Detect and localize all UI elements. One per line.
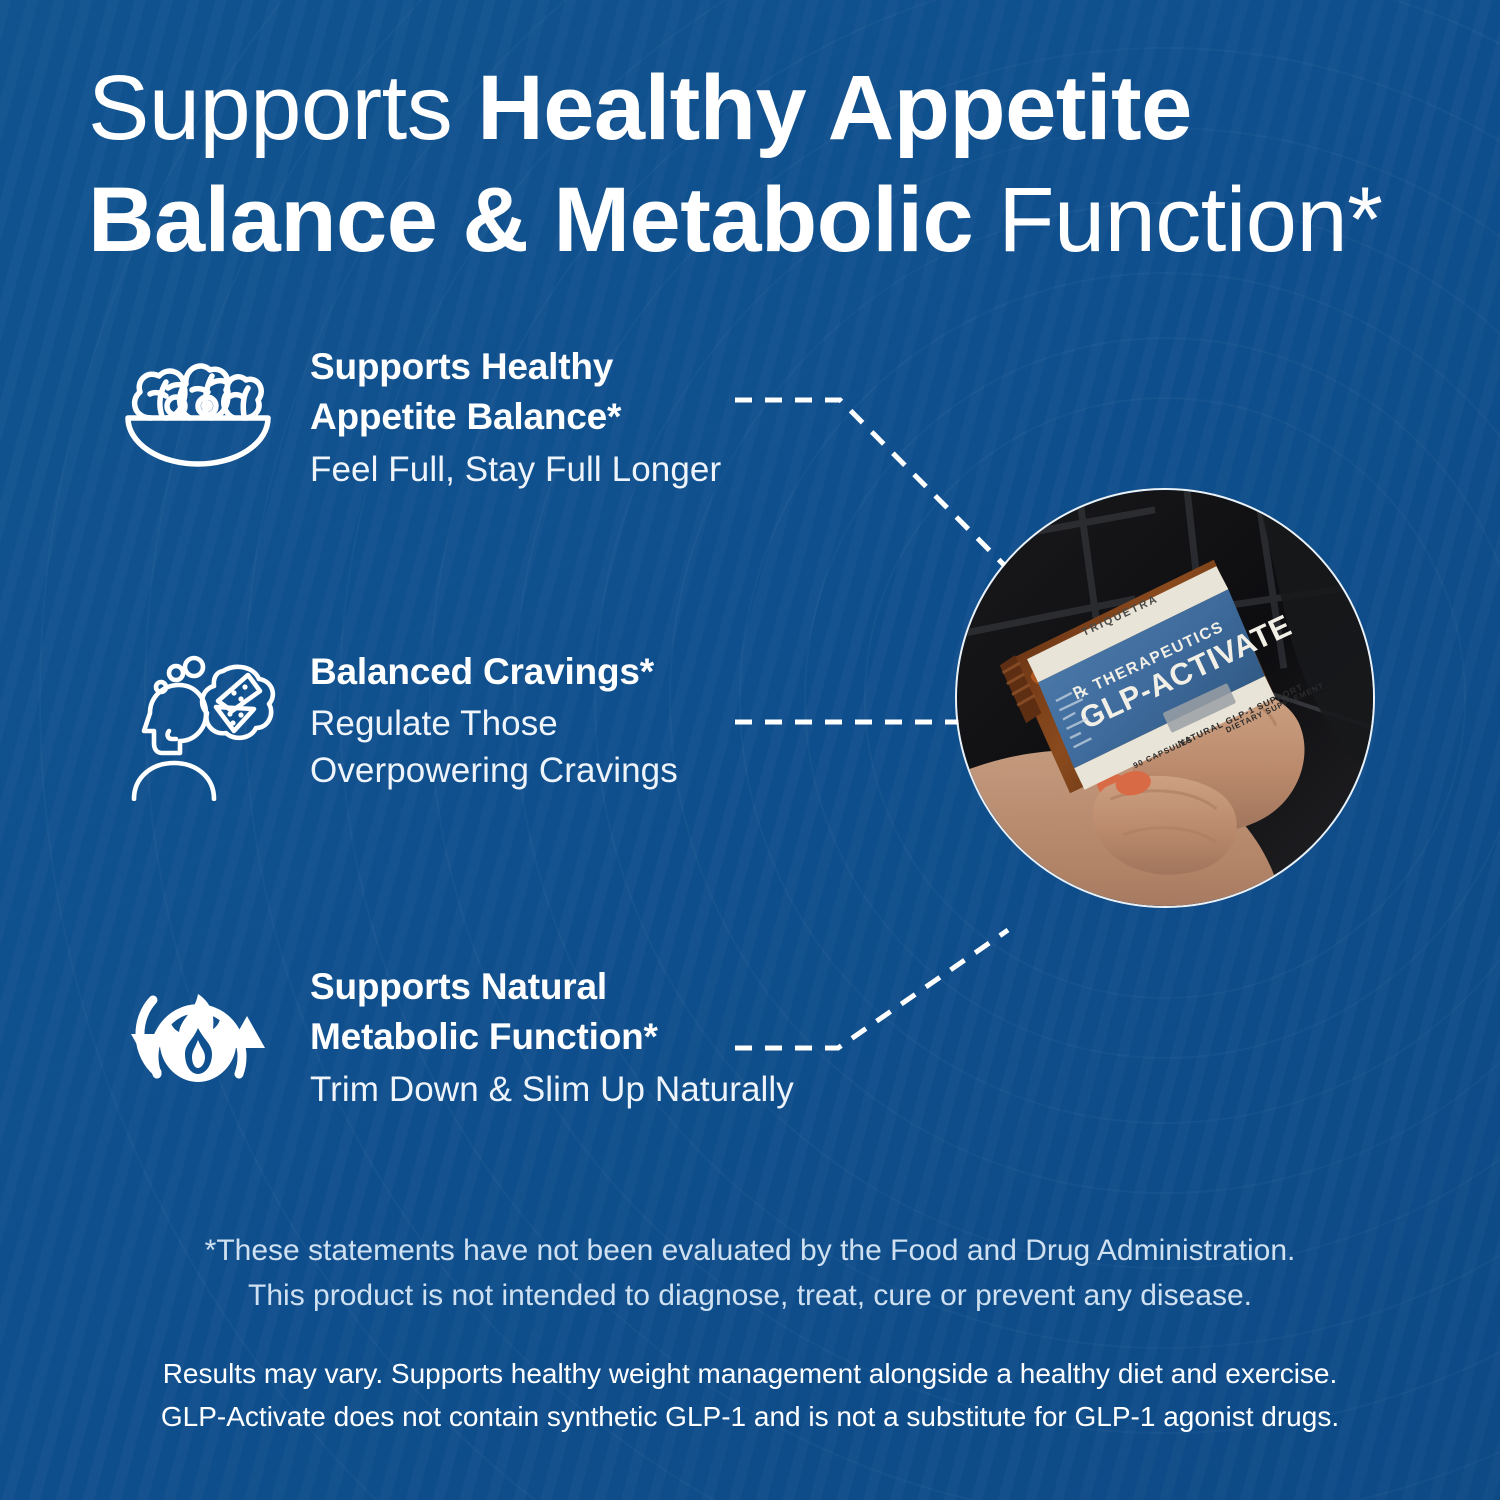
feature-text-block: Supports Healthy Appetite Balance* Feel … — [284, 340, 721, 493]
feature-row-appetite-balance: Supports Healthy Appetite Balance* Feel … — [112, 340, 721, 493]
feature-subtitle: Feel Full, Stay Full Longer — [310, 447, 721, 494]
feature-row-metabolic-function: Supports Natural Metabolic Function* Tri… — [112, 960, 794, 1113]
feature-row-balanced-cravings: Balanced Cravings* Regulate Those Overpo… — [112, 645, 678, 801]
product-photo: TRIQUETRA ℞ THERAPEUTICS GLP-ACTIVATE NA… — [957, 490, 1373, 906]
head-craving-pizza-icon — [112, 645, 284, 801]
feature-subtitle: Regulate Those Overpowering Cravings — [310, 701, 678, 794]
feature-title: Balanced Cravings* — [310, 647, 678, 697]
feature-text-block: Balanced Cravings* Regulate Those Overpo… — [284, 645, 678, 794]
salad-bowl-icon — [112, 340, 284, 468]
feature-subtitle: Trim Down & Slim Up Naturally — [310, 1067, 794, 1114]
feature-title: Supports Healthy Appetite Balance* — [310, 342, 721, 443]
fda-disclaimer: *These statements have not been evaluate… — [0, 1228, 1500, 1318]
flame-metabolism-icon — [112, 960, 284, 1106]
feature-title: Supports Natural Metabolic Function* — [310, 962, 794, 1063]
product-photo-circle: TRIQUETRA ℞ THERAPEUTICS GLP-ACTIVATE NA… — [955, 488, 1375, 908]
results-footnote: Results may vary. Supports healthy weigh… — [0, 1352, 1500, 1439]
headline-part-1: Supports — [88, 57, 477, 159]
page-title: Supports Healthy Appetite Balance & Meta… — [88, 52, 1448, 276]
feature-text-block: Supports Natural Metabolic Function* Tri… — [284, 960, 794, 1113]
headline-part-3: Function* — [973, 169, 1382, 271]
